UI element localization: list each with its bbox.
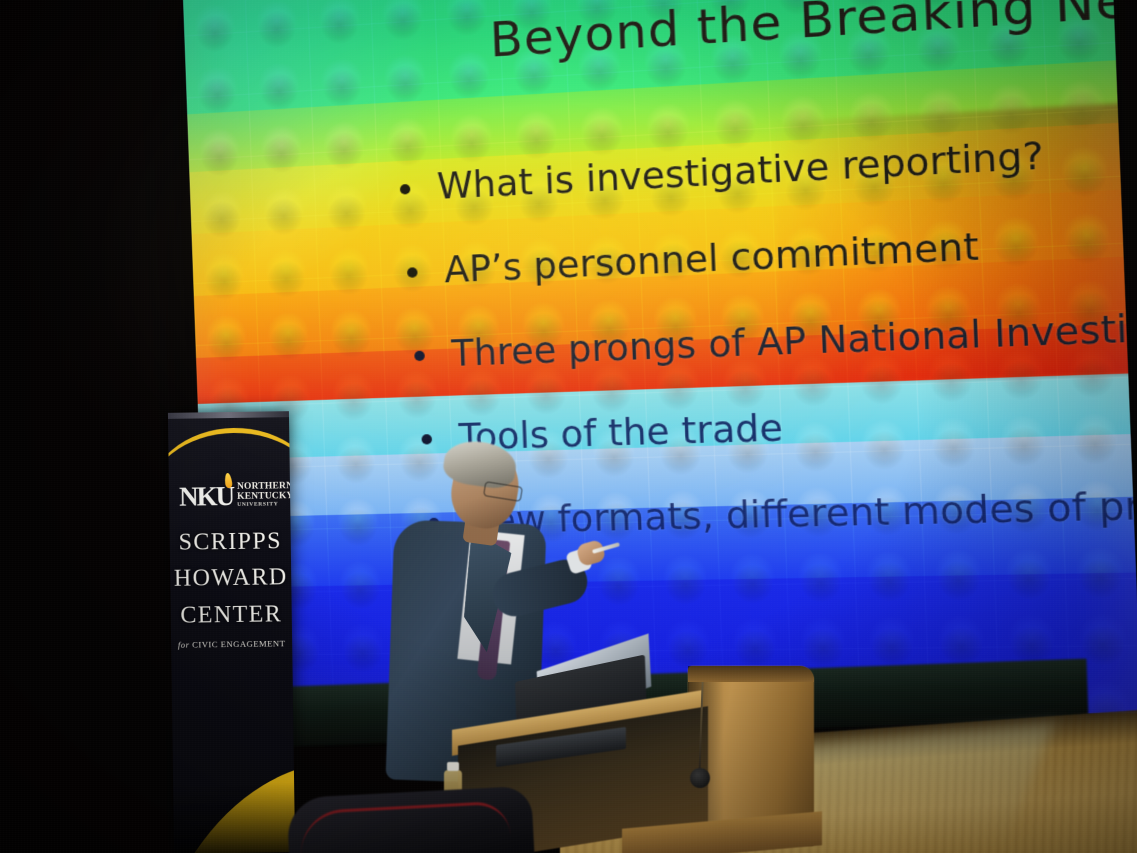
banner-rail xyxy=(168,411,289,419)
slide-text-layer: Beyond the Breaking News What is investi… xyxy=(183,0,1137,718)
bullet-dot-icon xyxy=(400,184,411,195)
center-name-line-1: SCRIPPS xyxy=(169,523,290,561)
center-tagline-prefix: for xyxy=(178,640,190,650)
center-tagline-text: CIVIC ENGAGEMENT xyxy=(192,638,285,649)
slide-bullet-3: Three prongs of AP National Investigativ… xyxy=(414,304,1137,377)
nku-logo: NKU NORTHERN KENTUCKY UNIVERSITY xyxy=(179,473,284,518)
projection-screen: Beyond the Breaking News What is investi… xyxy=(183,0,1137,718)
water-bottle-cap xyxy=(447,762,459,771)
nku-scripps-howard-banner: NKU NORTHERN KENTUCKY UNIVERSITY SCRIPPS… xyxy=(168,411,295,853)
slide-surface: Beyond the Breaking News What is investi… xyxy=(183,0,1137,718)
slide-bullet-1-text: What is investigative reporting? xyxy=(436,135,1044,208)
center-name: SCRIPPS HOWARD CENTER xyxy=(169,523,292,634)
presentation-scene: Beyond the Breaking News What is investi… xyxy=(0,0,1137,853)
microphone-icon xyxy=(690,768,710,788)
slide-bullet-3-text: Three prongs of AP National Investigativ… xyxy=(451,304,1137,375)
bullet-dot-icon xyxy=(407,267,418,278)
center-name-line-2: HOWARD xyxy=(170,560,291,598)
banner-shadow-fade xyxy=(173,782,295,853)
bullet-dot-icon xyxy=(414,351,425,362)
flame-icon xyxy=(224,472,233,488)
podium-top-lip xyxy=(688,666,814,682)
slide-bullet-2: AP’s personnel commitment xyxy=(406,227,979,294)
slide-bullet-1: What is investigative reporting? xyxy=(399,135,1044,209)
slide-title: Beyond the Breaking News xyxy=(489,0,1137,68)
slide-bullet-2-text: AP’s personnel commitment xyxy=(444,227,980,292)
nku-line-3: UNIVERSITY xyxy=(237,502,294,508)
center-tagline: for CIVIC ENGAGEMENT xyxy=(171,638,292,650)
center-name-line-3: CENTER xyxy=(171,596,292,634)
nku-university-name: NORTHERN KENTUCKY UNIVERSITY xyxy=(237,483,294,509)
nku-wordmark: NKU xyxy=(179,482,233,510)
